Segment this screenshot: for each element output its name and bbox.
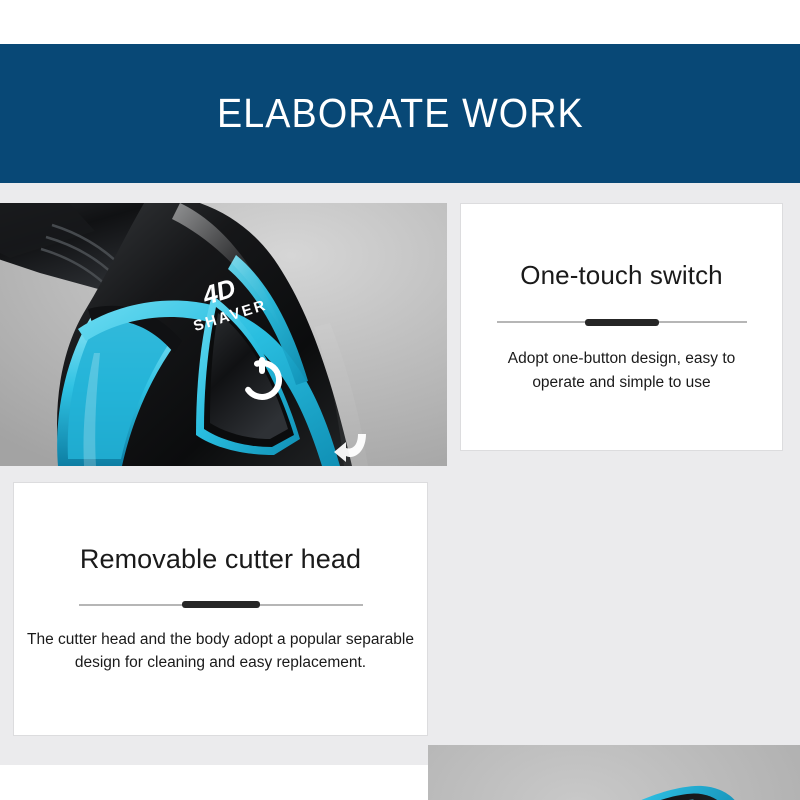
- divider-nub: [182, 601, 260, 608]
- page-title: ELABORATE WORK: [217, 90, 584, 137]
- feature-photo-removable-cutter-head: 4D SHAVER: [428, 745, 800, 800]
- feature-card-one-touch-switch: One-touch switch Adopt one-button design…: [460, 203, 783, 451]
- header-banner: ELABORATE WORK: [0, 44, 800, 183]
- feature-description: Adopt one-button design, easy to operate…: [489, 347, 754, 394]
- heading-divider: [497, 317, 747, 327]
- shaver-closeup-illustration: 4D SHAVER: [0, 203, 447, 466]
- feature-photo-one-touch-switch: 4D SHAVER Close-up of black and cyan 4D …: [0, 203, 447, 466]
- divider-nub: [585, 319, 659, 326]
- product-feature-page: ELABORATE WORK: [0, 0, 800, 800]
- feature-heading: One-touch switch: [520, 260, 722, 291]
- shaver-separated-illustration: 4D SHAVER: [428, 745, 800, 800]
- photo-canvas: 4D SHAVER: [0, 203, 447, 466]
- photo-canvas: 4D SHAVER: [428, 745, 800, 800]
- feature-description: The cutter head and the body adopt a pop…: [25, 628, 417, 675]
- feature-heading: Removable cutter head: [80, 544, 361, 575]
- feature-card-removable-cutter-head: Removable cutter head The cutter head an…: [13, 482, 428, 736]
- feature-grid: 4D SHAVER Close-up of black and cyan 4D …: [0, 183, 800, 765]
- heading-divider: [79, 600, 363, 610]
